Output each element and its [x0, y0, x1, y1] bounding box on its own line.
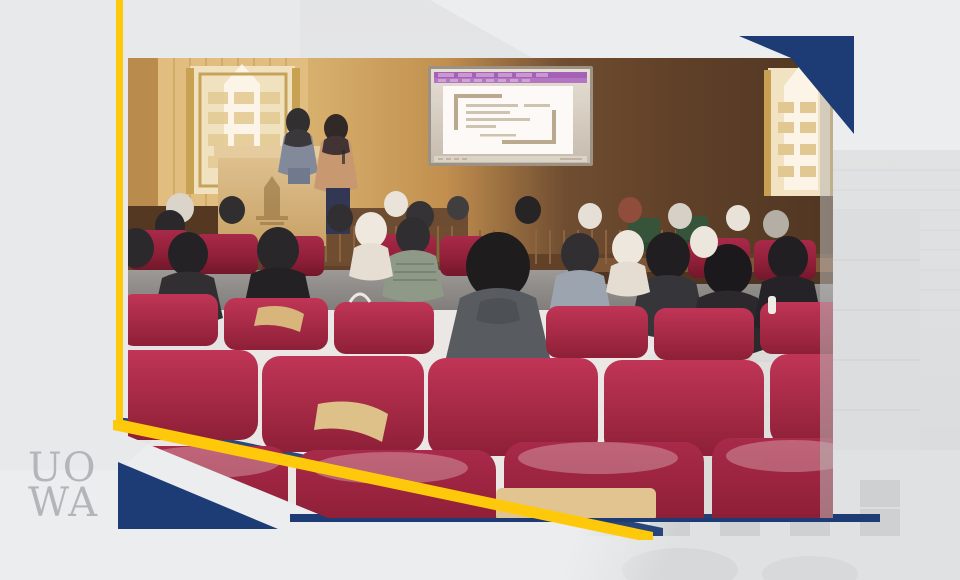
banner-stage: UO WA [0, 0, 960, 580]
uowa-logo: UO WA [28, 452, 120, 530]
yellow-vertical-accent [116, 0, 123, 430]
logo-line-2: WA [28, 487, 120, 520]
